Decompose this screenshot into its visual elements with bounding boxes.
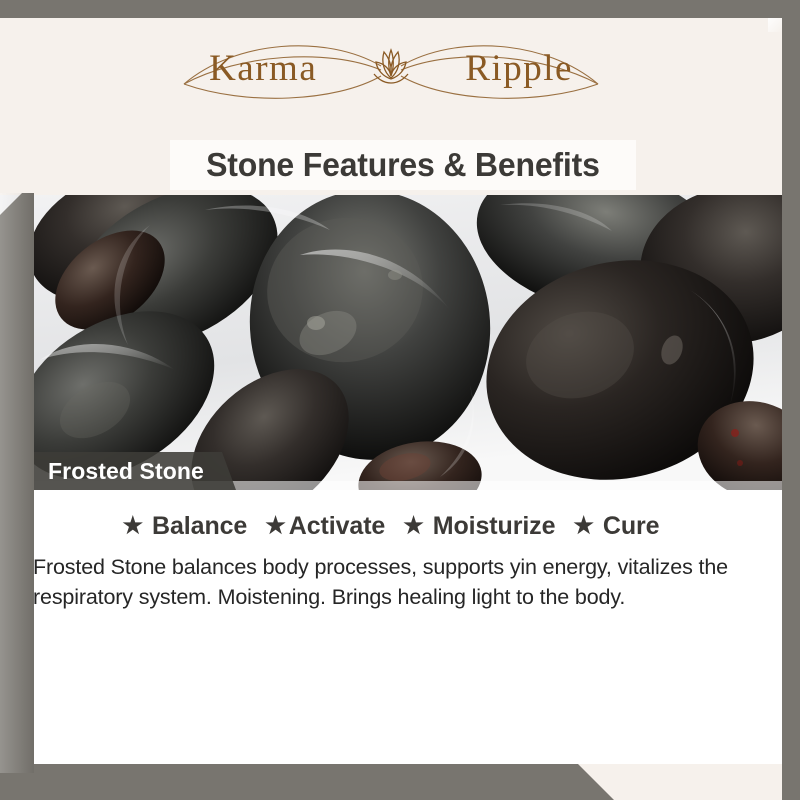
page-title: Stone Features & Benefits [206, 146, 600, 184]
description-text: Frosted Stone balances body processes, s… [33, 552, 755, 612]
frame-top-bar [0, 0, 800, 18]
star-icon: ★ [123, 512, 144, 538]
benefit-label-moisturize: Moisturize [433, 512, 556, 540]
benefits-list: ★Balance★Activate★Moisturize★Cure [0, 512, 782, 541]
frame-corner-notch [768, 18, 782, 32]
description-line-1: Frosted Stone balances body processes, s… [33, 552, 755, 582]
frame-right-bar [782, 0, 800, 800]
benefit-label-activate: Activate [289, 512, 385, 540]
stone-photo-illustration [0, 195, 782, 490]
star-icon: ★ [403, 512, 424, 538]
stone-photo [0, 195, 782, 490]
star-icon: ★ [265, 512, 286, 538]
benefit-label-cure: Cure [603, 512, 660, 540]
star-icon: ★ [573, 512, 594, 538]
product-info-card: Karma Ripple Stone Features & Benefits [0, 0, 800, 800]
brand-word-left: Karma [209, 50, 317, 87]
benefit-label-balance: Balance [152, 512, 247, 540]
body-area: ★Balance★Activate★Moisturize★Cure Froste… [0, 490, 782, 764]
brand-word-right: Ripple [465, 50, 573, 87]
title-plate: Stone Features & Benefits [170, 140, 636, 190]
frame-left-bar [0, 193, 34, 773]
description-line-2: respiratory system. Moistening. Brings h… [33, 582, 755, 612]
brand-logo: Karma Ripple [0, 32, 782, 104]
